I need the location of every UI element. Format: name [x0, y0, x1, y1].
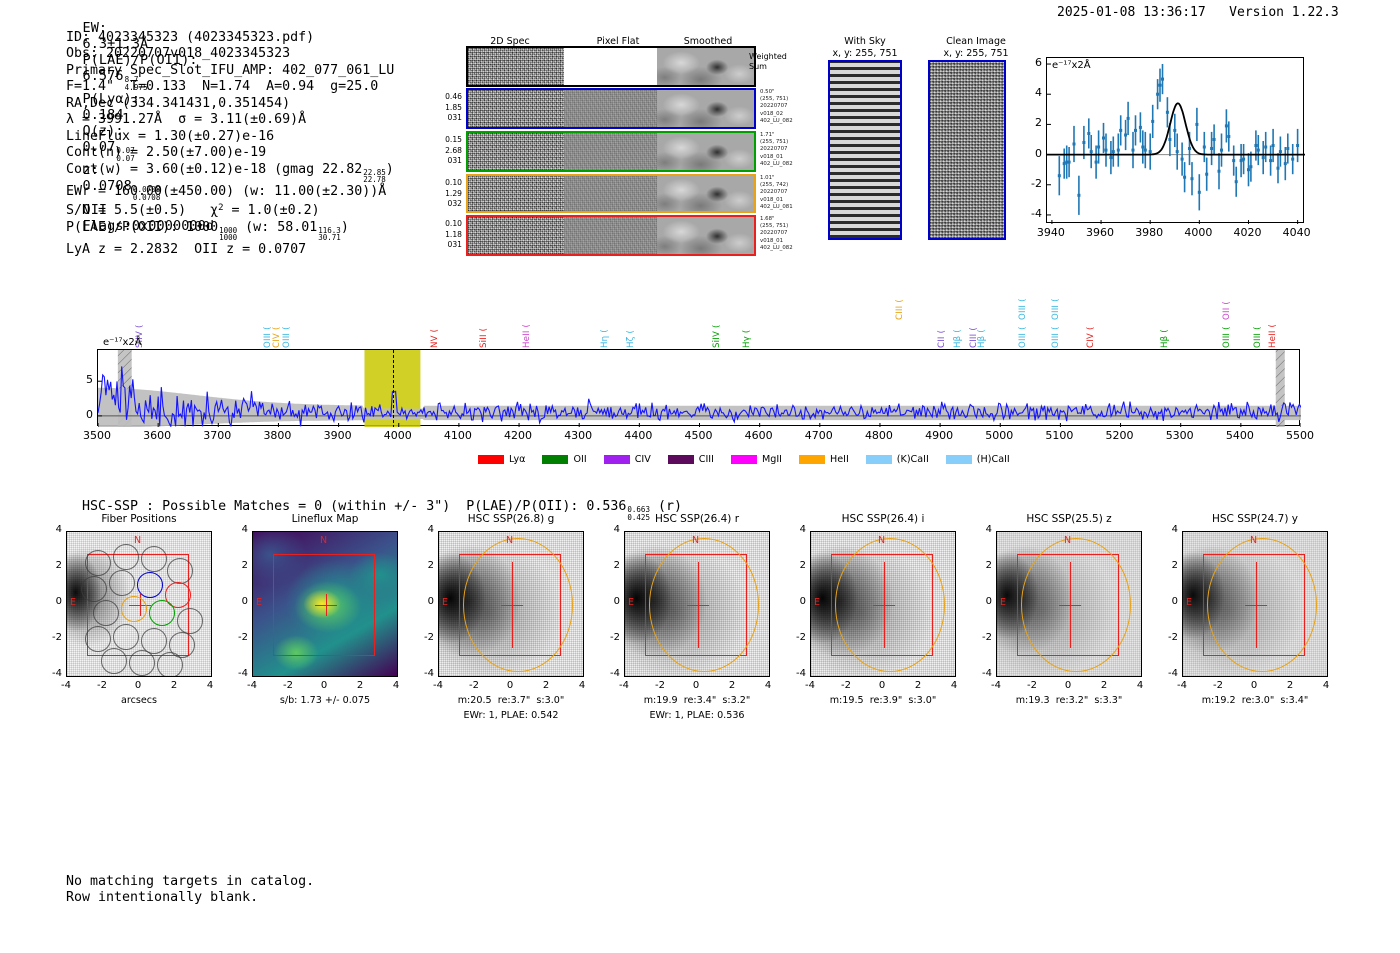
fiber-circle: [177, 608, 203, 634]
bottom-note: No matching targets in catalog. Row inte…: [66, 874, 314, 907]
spec2d-row-info-line: (255, 751): [760, 139, 816, 146]
info-sn-post: = 1.0(±0.2): [224, 203, 320, 218]
cutout-xtick: -4: [236, 680, 268, 691]
spectrum-xtick: 5500: [1278, 429, 1322, 442]
legend-label: OII: [573, 454, 586, 465]
cutout-title: HSC SSP(26.8) g: [420, 513, 602, 525]
cutout-caption-primary: s/b: 1.73 +/- 0.075: [230, 695, 420, 706]
spec2d-row-info-line: 402_LU_082: [760, 245, 816, 252]
legend-swatch: [731, 455, 757, 464]
spectrum-xtick: 4400: [616, 429, 660, 442]
hsc-ssp-header-text: HSC-SSP : Possible Matches = 0 (within +…: [82, 499, 626, 514]
legend-label: (H)CaII: [977, 454, 1010, 465]
spectrum-units-annotation: e⁻¹⁷x2Å: [103, 337, 142, 348]
cutout-xtick: -2: [272, 680, 304, 691]
spec2d-row-info: 1.01"(255, 742)20220707v018_01402_LU_081: [760, 175, 816, 211]
spec2d-row-info-line: 1.71": [760, 132, 816, 139]
cutout-title: HSC SSP(26.4) r: [606, 513, 788, 525]
cutout-xtick: -4: [50, 680, 82, 691]
cutout-ytick: 4: [40, 524, 62, 535]
legend-swatch: [604, 455, 630, 464]
fiber-circle: [157, 652, 183, 677]
crosshair-vertical: [512, 562, 513, 648]
cutout-xtick: 4: [380, 680, 412, 691]
cutout-title: HSC SSP(24.7) y: [1164, 513, 1346, 525]
cutout-ytick: 4: [412, 524, 434, 535]
fiber-circle: [113, 544, 139, 570]
spec2d-row-metric: 1.85: [432, 103, 462, 114]
east-marker: E: [256, 597, 262, 608]
info-redshifts: LyA z = 2.2832 OII z = 0.0707: [66, 242, 394, 258]
emission-line-label: CII (: [937, 310, 947, 348]
cutout-ytick: 4: [1156, 524, 1178, 535]
spectrum-xtick: 3500: [75, 429, 119, 442]
cutout-ytick: -2: [784, 632, 806, 643]
info-lineflux: LineFlux = 1.30(±0.27)e-16: [66, 129, 394, 145]
legend-item: (H)CaII: [946, 454, 1010, 465]
emission-line-label: HeII (: [522, 310, 532, 348]
legend-label: (K)CaII: [897, 454, 929, 465]
emission-line-label: NV (: [430, 310, 440, 348]
cutout-xtick: 0: [122, 680, 154, 691]
cutout-image[interactable]: [438, 531, 584, 677]
spec2d-row-metric: 1.29: [432, 189, 462, 200]
cutout-xtick: -4: [1166, 680, 1198, 691]
line-profile-xtick: 3960: [1084, 226, 1116, 239]
east-marker: E: [814, 597, 820, 608]
fiber-circle: [85, 550, 111, 576]
spec2d-row-info-line: 1.01": [760, 175, 816, 182]
fiber-circle: [85, 626, 111, 652]
east-marker: E: [1186, 597, 1192, 608]
line-profile-plot: [1046, 57, 1304, 223]
cutout-title: Fiber Positions: [48, 513, 230, 525]
emission-line-label: OII (: [1222, 282, 1232, 320]
cutout-caption-secondary: EWr: 1, PLAE: 0.536: [602, 710, 792, 721]
spectrum-xtick: 4100: [436, 429, 480, 442]
cutout-xtick: -2: [644, 680, 676, 691]
crosshair-vertical: [1256, 562, 1257, 648]
info-gmag-lower: 22.78: [363, 176, 386, 184]
line-profile-xtick: 3980: [1133, 226, 1165, 239]
cutout-image[interactable]: [1182, 531, 1328, 677]
spec2d-row-info-line: v018_01: [760, 197, 816, 204]
source-ellipse: [1207, 538, 1317, 672]
cutout-title: Lineflux Map: [234, 513, 416, 525]
spec2d-row-info-line: 0.50": [760, 89, 816, 96]
source-ellipse: [835, 538, 945, 672]
cutout-ytick: -4: [598, 668, 620, 679]
emission-line-label: CIV (: [272, 310, 282, 348]
cutout-ytick: 4: [598, 524, 620, 535]
emission-line-label: Hβ (: [953, 310, 963, 348]
emission-line-label: Hη (: [600, 310, 610, 348]
cutout-caption-primary: m:19.9 re:3.4" s:3.2": [602, 695, 792, 706]
cutout-ytick: 0: [784, 596, 806, 607]
cutout-xtick: 2: [716, 680, 748, 691]
fiber-circle: [129, 650, 155, 676]
crosshair-vertical: [884, 562, 885, 648]
cutout-ytick: 4: [784, 524, 806, 535]
cutout-xtick: 2: [530, 680, 562, 691]
emission-line-label: SiIV (: [712, 310, 722, 348]
spec2d-row-metrics: 0.101.18031: [432, 219, 462, 251]
info-id: ID: 4023345323 (4023345323.pdf): [66, 30, 394, 46]
line-profile-ytick: 4: [1022, 86, 1042, 99]
cutout-image[interactable]: [252, 531, 398, 677]
spec2d-row-info-line: (255, 751): [760, 96, 816, 103]
spectrum-xtick: 5100: [1037, 429, 1081, 442]
emission-line-label: Hβ (: [977, 310, 987, 348]
cutout-title: HSC SSP(25.5) z: [978, 513, 1160, 525]
hsc-band: (r): [658, 499, 682, 514]
emission-line-label: SiII (: [479, 310, 489, 348]
info-spec-slot: Primary Spec_Slot_IFU_AMP: 402_077_061_L…: [66, 63, 394, 79]
cutout-ytick: 2: [598, 560, 620, 571]
cutout-ytick: -2: [970, 632, 992, 643]
spectrum-xtick: 4500: [677, 429, 721, 442]
spec2d-row-info-line: 20220707: [760, 189, 816, 196]
cutout-xtick: 4: [752, 680, 784, 691]
emission-line-label: OIII (: [282, 310, 292, 348]
legend-swatch: [668, 455, 694, 464]
legend-label: MgII: [762, 454, 782, 465]
cutout-ytick: -2: [598, 632, 620, 643]
spec2d-row-metric: 031: [432, 156, 462, 167]
legend-label: CIV: [635, 454, 651, 465]
spec2d-row-metrics: 0.461.85031: [432, 92, 462, 124]
spec2d-row-metric: 0.46: [432, 92, 462, 103]
cutout-xtick: 4: [566, 680, 598, 691]
info-plae-lower: 1000: [219, 234, 237, 242]
cutout-ytick: 2: [226, 560, 248, 571]
spectrum-xtick: 3800: [255, 429, 299, 442]
north-marker: N: [878, 535, 885, 546]
cutout-image[interactable]: [624, 531, 770, 677]
line-profile-ytick: 2: [1022, 116, 1042, 129]
emission-line-label: OIII (: [1051, 282, 1061, 320]
fiber-circle: [109, 570, 135, 596]
spectrum-xtick: 3700: [195, 429, 239, 442]
info-cont-w-post: ): [386, 162, 394, 177]
cutout-xtick: -2: [1016, 680, 1048, 691]
emission-line-label: CIII (: [895, 282, 905, 320]
spectrum-ytick: 5: [73, 373, 93, 386]
line-profile-xtick: 4000: [1182, 226, 1214, 239]
cutout-ytick: 2: [412, 560, 434, 571]
cutout-xtick: -4: [608, 680, 640, 691]
legend-item: HeII: [799, 454, 849, 465]
line-profile-ytick: -2: [1022, 177, 1042, 190]
panel-subtitle-clean-image: x, y: 255, 751: [916, 48, 1036, 59]
cutout-ytick: 2: [784, 560, 806, 571]
spectrum-xtick: 3900: [316, 429, 360, 442]
spec2d-row-info: 1.71"(255, 751)20220707v018_01402_LU_082: [760, 132, 816, 168]
bottom-note-line-1: No matching targets in catalog.: [66, 874, 314, 890]
cutout-xtick: -4: [980, 680, 1012, 691]
cutout-xtick: 0: [866, 680, 898, 691]
fiber-circle: [113, 624, 139, 650]
line-profile-ytick: 6: [1022, 56, 1042, 69]
spec2d-row-info-line: 20220707: [760, 103, 816, 110]
spec2d-row-info-line: 1.68": [760, 216, 816, 223]
cutout-xtick: -2: [458, 680, 490, 691]
legend-swatch: [478, 455, 504, 464]
with-sky-image: [828, 60, 902, 240]
cutout-ytick: -2: [226, 632, 248, 643]
legend-item: Lyα: [478, 454, 525, 465]
cutout-ytick: 0: [40, 596, 62, 607]
north-marker: N: [1250, 535, 1257, 546]
info-ewr: EWr = 160.00(±450.00) (w: 11.00(±2.30))Å: [66, 184, 394, 200]
info-plae-mid: (w: 58.01: [237, 220, 317, 235]
spectrum-legend: LyαOIICIVCIIIMgIIHeII(K)CaII(H)CaII: [478, 454, 1010, 465]
legend-label: HeII: [830, 454, 849, 465]
spectrum-xtick: 4700: [797, 429, 841, 442]
info-obs: Obs: 20220707v018_4023345323: [66, 46, 394, 62]
cutout-ytick: 0: [598, 596, 620, 607]
cutout-xtick: 0: [494, 680, 526, 691]
weighted-sum-label: Weighted Sum: [749, 52, 787, 72]
spec2d-row-metric: 0.15: [432, 135, 462, 146]
legend-swatch: [946, 455, 972, 464]
spec2d-row-info-line: (255, 751): [760, 223, 816, 230]
north-marker: N: [506, 535, 513, 546]
cutout-caption-primary: m:19.5 re:3.9" s:3.0": [788, 695, 978, 706]
cutout-xtick: 0: [680, 680, 712, 691]
cutout-ytick: -4: [784, 668, 806, 679]
cutout-xlabel: arcsecs: [66, 695, 212, 706]
cutout-xtick: 0: [1238, 680, 1270, 691]
spec2d-row-metrics: 0.152.68031: [432, 135, 462, 167]
spec2d-row-info-line: v018_01: [760, 154, 816, 161]
spectrum-xtick: 5400: [1218, 429, 1262, 442]
fiber-circle: [167, 558, 193, 584]
fiber-circle: [149, 600, 175, 626]
cutout-xtick: 2: [344, 680, 376, 691]
cutout-xtick: 4: [1124, 680, 1156, 691]
panel-subtitle-with-sky: x, y: 255, 751: [810, 48, 920, 59]
cutout-ytick: 2: [1156, 560, 1178, 571]
emission-line-label: CIV (: [1086, 310, 1096, 348]
spectrum-xtick: 4200: [496, 429, 540, 442]
cutout-xtick: 2: [1274, 680, 1306, 691]
legend-item: MgII: [731, 454, 782, 465]
cutout-xtick: 4: [194, 680, 226, 691]
spec2d-row: [466, 215, 756, 256]
cutout-caption-primary: m:19.2 re:3.0" s:3.4": [1160, 695, 1350, 706]
spec2d-row-metric: 032: [432, 199, 462, 210]
fiber-circle: [137, 572, 163, 598]
north-marker: N: [320, 535, 327, 546]
clean-image: [928, 60, 1006, 240]
cutout-xtick: -2: [1202, 680, 1234, 691]
cutout-ytick: -4: [40, 668, 62, 679]
cutout-xtick: 0: [308, 680, 340, 691]
north-marker: N: [692, 535, 699, 546]
spec2d-row-metric: 031: [432, 113, 462, 124]
spec2d-row: [466, 131, 756, 172]
info-plae: P(LAE)/P(OII): 100010001000 (w: 58.01116…: [66, 220, 394, 242]
cutout-xtick: -4: [794, 680, 826, 691]
spec2d-row-metric: 1.18: [432, 230, 462, 241]
cutout-xtick: -4: [422, 680, 454, 691]
cutout-xtick: -2: [86, 680, 118, 691]
spec2d-row: [466, 174, 756, 213]
cutout-ytick: 4: [226, 524, 248, 535]
line-profile-ytick: 0: [1022, 147, 1042, 160]
cutout-ytick: -4: [412, 668, 434, 679]
spectrum-ytick: 0: [73, 408, 93, 421]
cutout-ytick: -2: [40, 632, 62, 643]
line-profile-xtick: 4020: [1231, 226, 1263, 239]
north-marker: N: [1064, 535, 1071, 546]
spectrum-xtick: 5300: [1158, 429, 1202, 442]
cutout-image[interactable]: [810, 531, 956, 677]
full-spectrum-plot: [97, 349, 1300, 426]
spectrum-xtick: 3600: [135, 429, 179, 442]
spectrum-xtick: 4600: [737, 429, 781, 442]
info-radec: RA,Dec (334.341431,0.351454): [66, 96, 394, 112]
legend-swatch: [799, 455, 825, 464]
spec2d-row-metric: 2.68: [432, 146, 462, 157]
spec2d-row-info-line: v018_02: [760, 111, 816, 118]
cutout-ytick: -4: [1156, 668, 1178, 679]
cutout-caption-primary: m:20.5 re:3.7" s:3.0": [416, 695, 606, 706]
east-marker: E: [1000, 597, 1006, 608]
source-ellipse: [649, 538, 759, 672]
weighted-sum-row: [466, 46, 756, 87]
spec2d-row-info-line: 20220707: [760, 230, 816, 237]
fiber-circle: [141, 546, 167, 572]
fiber-circle: [81, 576, 107, 602]
source-ellipse: [1021, 538, 1131, 672]
spec2d-row-metric: 0.10: [432, 178, 462, 189]
cutout-ytick: 0: [1156, 596, 1178, 607]
spectrum-xtick: 4900: [917, 429, 961, 442]
line-profile-xtick: 3940: [1035, 226, 1067, 239]
spec2d-row-metrics: 0.101.29032: [432, 178, 462, 210]
cutout-caption-secondary: EWr: 1, PLAE: 0.542: [416, 710, 606, 721]
legend-item: (K)CaII: [866, 454, 929, 465]
cutout-ytick: -2: [1156, 632, 1178, 643]
cutout-ytick: 0: [412, 596, 434, 607]
bottom-note-line-2: Row intentionally blank.: [66, 890, 314, 906]
cutout-xtick: 4: [1310, 680, 1342, 691]
cutout-image[interactable]: [996, 531, 1142, 677]
cutout-caption-primary: m:19.3 re:3.2" s:3.3": [974, 695, 1164, 706]
spec2d-row-info: 0.50"(255, 751)20220707v018_02402_LU_082: [760, 89, 816, 125]
info-cont-n: Cont(n) = 2.50(±7.00)e-19: [66, 145, 394, 161]
panel-title-with-sky: With Sky: [810, 36, 920, 47]
crosshair-vertical: [1070, 562, 1071, 648]
spec2d-row-metric: 031: [432, 240, 462, 251]
emission-line-label: OIII (: [1253, 310, 1263, 348]
legend-label: CIII: [699, 454, 714, 465]
spec2d-row-info-line: 20220707: [760, 146, 816, 153]
emission-line-label: HeII (: [1268, 310, 1278, 348]
crosshair-vertical: [698, 562, 699, 648]
target-info-block: ID: 4023345323 (4023345323.pdf) Obs: 202…: [66, 30, 394, 258]
legend-swatch: [542, 455, 568, 464]
fiber-circle: [93, 600, 119, 626]
cutout-xtick: 2: [902, 680, 934, 691]
cutout-xtick: 2: [1088, 680, 1120, 691]
east-marker: E: [628, 597, 634, 608]
source-ellipse: [463, 538, 573, 672]
info-cont-w-pre: Cont(w) = 3.60(±0.12)e-18 (gmag 22.82: [66, 162, 362, 177]
cutout-ytick: -2: [412, 632, 434, 643]
legend-item: CIII: [668, 454, 714, 465]
spectrum-xtick: 4800: [857, 429, 901, 442]
legend-label: Lyα: [509, 454, 525, 465]
emission-line-label: OIII (: [1018, 282, 1028, 320]
cutout-ytick: 2: [970, 560, 992, 571]
cutout-xtick: 4: [938, 680, 970, 691]
fiber-circle: [101, 648, 127, 674]
line-profile-xtick: 4040: [1281, 226, 1313, 239]
emission-line-label: Hζ (: [626, 310, 636, 348]
info-seeing: F=1.4" T=0.133 N=1.74 A=0.94 g=25.0: [66, 79, 394, 95]
spec2d-row-info-line: 402_LU_082: [760, 118, 816, 125]
spectrum-xtick: 4000: [376, 429, 420, 442]
spec2d-row-info: 1.68"(255, 751)20220707v018_01402_LU_082: [760, 216, 816, 252]
emission-line-label: Hβ (: [1160, 310, 1170, 348]
spectrum-xtick: 4300: [556, 429, 600, 442]
crosshair: [253, 532, 397, 676]
cutout-xtick: 0: [1052, 680, 1084, 691]
emission-line-label: Hγ (: [742, 310, 752, 348]
cutout-xtick: 2: [158, 680, 190, 691]
cutout-ytick: 0: [970, 596, 992, 607]
cutout-title: HSC SSP(26.4) i: [792, 513, 974, 525]
cutout-ytick: 0: [226, 596, 248, 607]
cutout-ytick: -4: [226, 668, 248, 679]
spec2d-row-metric: 0.10: [432, 219, 462, 230]
spec2d-row-info-line: 402_LU_081: [760, 204, 816, 211]
legend-swatch: [866, 455, 892, 464]
fiber-circle: [121, 596, 147, 622]
cutout-ytick: 2: [40, 560, 62, 571]
spec2d-row-info-line: (255, 742): [760, 182, 816, 189]
info-lambda: λ = 3991.27Å σ = 3.11(±0.69)Å: [66, 112, 394, 128]
east-marker: E: [70, 597, 76, 608]
north-marker: N: [134, 535, 141, 546]
timestamp-version: 2025-01-08 13:36:17 Version 1.22.3: [1057, 5, 1339, 20]
info-cont-w: Cont(w) = 3.60(±0.12)e-18 (gmag 22.8222.…: [66, 162, 394, 184]
info-sn-pre: S/N = 5.5(±0.5) χ: [66, 203, 218, 218]
info-sn: S/N = 5.5(±0.5) χ2 = 1.0(±0.2): [66, 200, 394, 219]
spectrum-xtick: 5000: [977, 429, 1021, 442]
cutout-ytick: -4: [970, 668, 992, 679]
info-plae-w-lower: 30.71: [318, 234, 341, 242]
line-profile-ytick: -4: [1022, 207, 1042, 220]
cutout-image[interactable]: [66, 531, 212, 677]
spec2d-row-info-line: 402_LU_082: [760, 161, 816, 168]
east-marker: E: [442, 597, 448, 608]
info-plae-pre: P(LAE)/P(OII): 1000: [66, 220, 218, 235]
spec2d-row: [466, 88, 756, 129]
legend-item: CIV: [604, 454, 651, 465]
info-plae-post: ): [341, 220, 349, 235]
panel-title-clean-image: Clean Image: [916, 36, 1036, 47]
cutout-xtick: -2: [830, 680, 862, 691]
line-profile-units-annotation: e⁻¹⁷x2Å: [1052, 60, 1091, 71]
cutout-ytick: 4: [970, 524, 992, 535]
legend-item: OII: [542, 454, 586, 465]
spectrum-xtick: 5200: [1098, 429, 1142, 442]
spec2d-row-info-line: v018_01: [760, 238, 816, 245]
